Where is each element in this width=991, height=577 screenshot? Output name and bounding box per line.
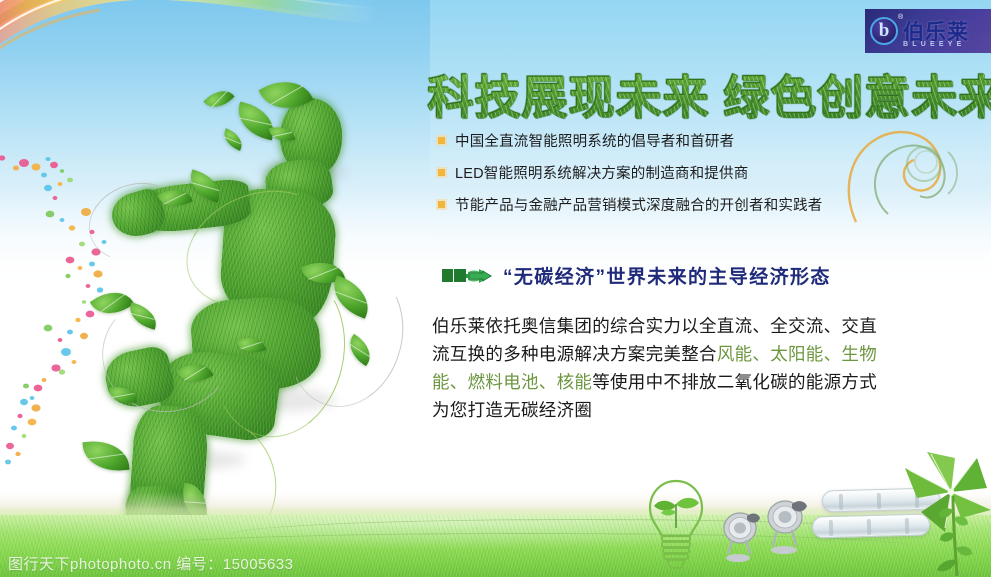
registered-mark: ® [898, 14, 903, 21]
bullet-label: 节能产品与金融产品营销模式深度融合的开创者和实践者 [455, 194, 823, 215]
watermark-text: 图行天下photophoto.cn 编号：15005633 [8, 553, 294, 574]
subheading-block: “无碳经济”世界未来的主导经济形态 [442, 262, 831, 289]
list-item: LED智能照明系统解决方案的制造商和提供商 [438, 162, 878, 183]
bullet-square-icon [438, 169, 445, 176]
lightbulb-with-sprout [640, 478, 712, 570]
subheading-label: “无碳经济”世界未来的主导经济形态 [503, 262, 831, 289]
lightbulb-icon [640, 478, 712, 570]
logo-badge-icon: b [870, 17, 898, 45]
garden-spotlight-2 [759, 494, 813, 556]
bullet-list: 中国全直流智能照明系统的倡导者和首研者 LED智能照明系统解决方案的制造商和提供… [438, 130, 878, 226]
logo-brand-en: BLUEEYE [903, 41, 965, 48]
pointing-hand-icon [442, 265, 496, 287]
grass-human-figure [118, 88, 418, 558]
bullet-square-icon [438, 201, 445, 208]
brand-logo[interactable]: b ® 伯乐莱 BLUEEYE [865, 9, 991, 53]
list-item: 中国全直流智能照明系统的倡导者和首研者 [438, 130, 878, 151]
body-paragraph: 伯乐莱依托奥信集团的综合实力以全直流、全交流、交直流互换的多种电源解决方案完美整… [432, 312, 884, 424]
spotlight-icon [759, 494, 813, 556]
bullet-square-icon [438, 137, 445, 144]
leaf-pinwheel [895, 448, 991, 576]
bullet-label: LED智能照明系统解决方案的制造商和提供商 [455, 162, 748, 183]
poster-canvas: b ® 伯乐莱 BLUEEYE 科技展现未来 绿色创意未来 中国全直流智能照明系… [0, 0, 991, 577]
pinwheel-icon [895, 448, 991, 576]
bullet-label: 中国全直流智能照明系统的倡导者和首研者 [455, 130, 734, 151]
list-item: 节能产品与金融产品营销模式深度融合的开创者和实践者 [438, 194, 878, 215]
